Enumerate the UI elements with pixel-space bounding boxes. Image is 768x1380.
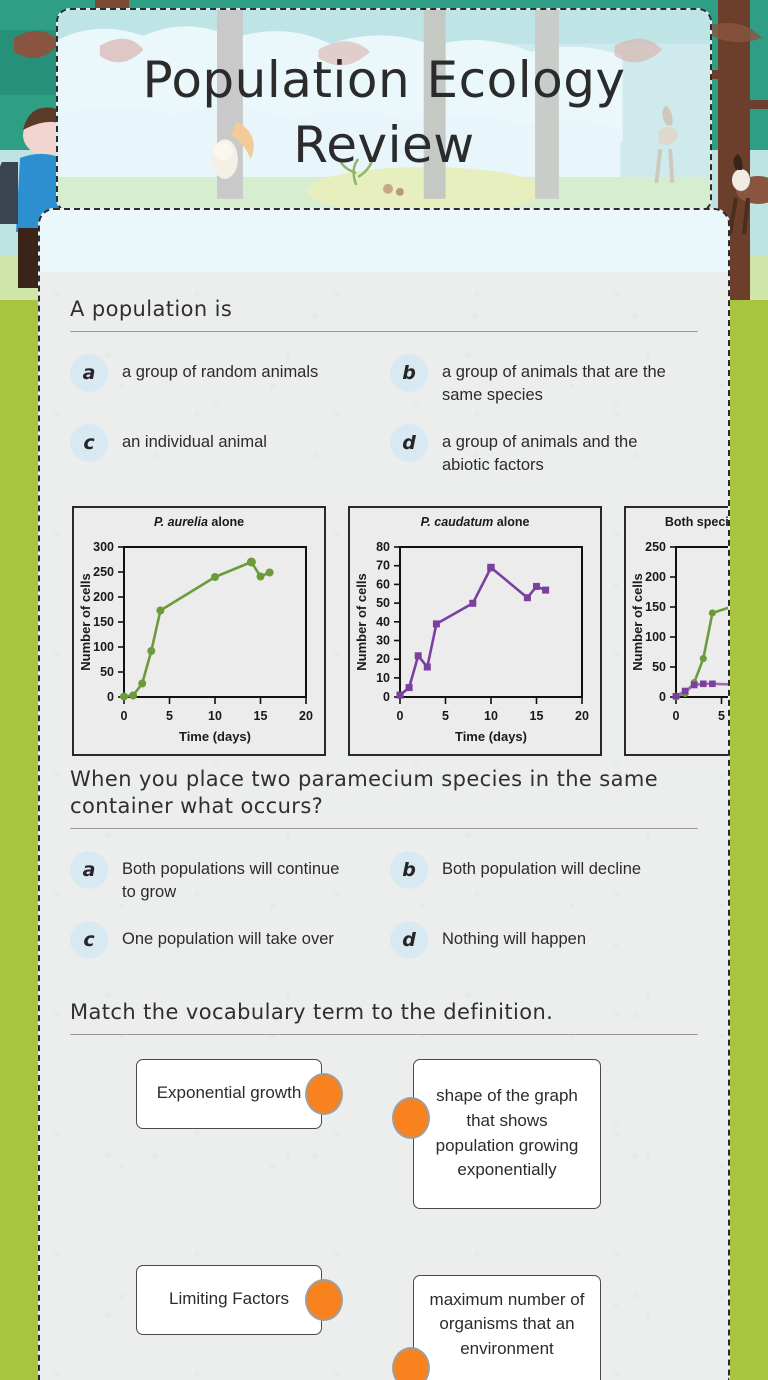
match-connector-dot[interactable] bbox=[305, 1073, 343, 1115]
question-1-option-a[interactable]: a a group of random animals bbox=[70, 352, 378, 414]
title-banner: Population Ecology Review bbox=[56, 8, 712, 213]
question-2-options: a Both populations will continue to grow… bbox=[70, 839, 698, 981]
svg-text:70: 70 bbox=[376, 559, 390, 573]
worksheet-paper-card: A population is a a group of random anim… bbox=[38, 208, 730, 1380]
chart-1-xlabel: Time (days) bbox=[179, 729, 251, 744]
svg-text:50: 50 bbox=[100, 665, 114, 679]
svg-text:20: 20 bbox=[575, 709, 589, 723]
match-definition-label: shape of the graph that shows population… bbox=[428, 1084, 586, 1183]
chart-2-title-rest: alone bbox=[493, 515, 529, 529]
svg-text:0: 0 bbox=[397, 709, 404, 723]
svg-text:100: 100 bbox=[645, 630, 666, 644]
question-2-option-c[interactable]: c One population will take over bbox=[70, 919, 378, 981]
option-letter-bubble[interactable]: c bbox=[70, 921, 108, 959]
chart-2-title-species: P. caudatum bbox=[421, 515, 494, 529]
svg-text:20: 20 bbox=[376, 652, 390, 666]
option-text: a group of animals that are the same spe… bbox=[442, 352, 667, 408]
option-letter-bubble[interactable]: c bbox=[70, 424, 108, 462]
svg-text:20: 20 bbox=[299, 709, 313, 723]
option-letter-bubble[interactable]: b bbox=[390, 851, 428, 889]
page-title-line-2: Review bbox=[293, 115, 474, 176]
question-2-option-b[interactable]: b Both population will decline bbox=[390, 849, 698, 911]
match-connector-dot[interactable] bbox=[392, 1097, 430, 1139]
question-2: When you place two paramecium species in… bbox=[40, 766, 728, 981]
svg-text:15: 15 bbox=[254, 709, 268, 723]
chart-p-aurelia-alone: P. aurelia alone 300 250 200 150 100 50 … bbox=[72, 506, 326, 756]
svg-text:0: 0 bbox=[121, 709, 128, 723]
page-title-line-1: Population Ecology bbox=[142, 50, 625, 111]
chart-3-title: Both species grown together bbox=[626, 508, 728, 529]
option-text: One population will take over bbox=[122, 919, 334, 951]
svg-text:0: 0 bbox=[673, 709, 680, 723]
svg-text:30: 30 bbox=[376, 633, 390, 647]
svg-text:250: 250 bbox=[645, 540, 666, 554]
svg-text:0: 0 bbox=[107, 690, 114, 704]
svg-text:5: 5 bbox=[442, 709, 449, 723]
chart-p-caudatum-alone: P. caudatum alone 80 70 60 50 40 30 20 1… bbox=[348, 506, 602, 756]
paramecium-charts-strip: P. aurelia alone 300 250 200 150 100 50 … bbox=[40, 506, 728, 758]
option-text: Both population will decline bbox=[442, 849, 641, 881]
chart-2-plot: 80 70 60 50 40 30 20 10 0 bbox=[350, 529, 600, 751]
svg-text:100: 100 bbox=[93, 640, 114, 654]
question-1-prompt: A population is bbox=[70, 296, 698, 331]
option-text: an individual animal bbox=[122, 422, 267, 454]
svg-text:0: 0 bbox=[659, 690, 666, 704]
match-definition-exponential-shape[interactable]: shape of the graph that shows population… bbox=[413, 1059, 601, 1209]
match-definition-label: maximum number of organisms that an envi… bbox=[428, 1288, 586, 1362]
page-title: Population Ecology Review bbox=[58, 10, 710, 211]
match-connector-dot[interactable] bbox=[305, 1279, 343, 1321]
matching-prompt: Match the vocabulary term to the definit… bbox=[70, 999, 698, 1034]
chart-1-ylabel: Number of cells bbox=[78, 573, 93, 671]
card-top-strip bbox=[40, 210, 728, 272]
question-2-option-a[interactable]: a Both populations will continue to grow bbox=[70, 849, 378, 911]
match-term-label: Limiting Factors bbox=[169, 1287, 289, 1312]
option-text: a group of animals and the abiotic facto… bbox=[442, 422, 667, 478]
option-text: Both populations will continue to grow bbox=[122, 849, 347, 905]
chart-1-title-rest: alone bbox=[208, 515, 244, 529]
question-1-option-d[interactable]: d a group of animals and the abiotic fac… bbox=[390, 422, 698, 484]
svg-text:0: 0 bbox=[383, 690, 390, 704]
svg-text:5: 5 bbox=[718, 709, 725, 723]
svg-text:10: 10 bbox=[208, 709, 222, 723]
chart-both-species-grown-together: Both species grown together 250 200 150 … bbox=[624, 506, 728, 756]
match-term-label: Exponential growth bbox=[157, 1081, 302, 1106]
chart-1-title: P. aurelia alone bbox=[74, 508, 324, 529]
svg-text:15: 15 bbox=[530, 709, 544, 723]
svg-text:200: 200 bbox=[645, 570, 666, 584]
svg-text:200: 200 bbox=[93, 590, 114, 604]
match-definition-carrying-capacity[interactable]: maximum number of organisms that an envi… bbox=[413, 1275, 601, 1380]
matching-terms-column: Exponential growth Limiting Factors bbox=[70, 1059, 355, 1380]
question-2-divider bbox=[70, 828, 698, 829]
worksheet: Population Ecology Review A population i… bbox=[36, 0, 732, 1380]
chart-1-plot: 300 250 200 150 100 50 0 bbox=[74, 529, 324, 751]
matching-grid: Exponential growth Limiting Factors shap… bbox=[70, 1045, 698, 1380]
question-1-divider bbox=[70, 331, 698, 332]
svg-text:80: 80 bbox=[376, 540, 390, 554]
option-letter-bubble[interactable]: d bbox=[390, 424, 428, 462]
question-1-option-c[interactable]: c an individual animal bbox=[70, 422, 378, 484]
chart-3-plot: 250 200 150 100 50 0 bbox=[626, 529, 728, 751]
svg-text:50: 50 bbox=[376, 596, 390, 610]
svg-text:150: 150 bbox=[93, 615, 114, 629]
chart-1-title-species: P. aurelia bbox=[154, 515, 208, 529]
match-connector-dot[interactable] bbox=[392, 1347, 430, 1380]
matching-definitions-column: shape of the graph that shows population… bbox=[413, 1059, 698, 1380]
matching-divider bbox=[70, 1034, 698, 1035]
worksheet-body: A population is a a group of random anim… bbox=[40, 272, 728, 1380]
matching-section: Match the vocabulary term to the definit… bbox=[40, 999, 728, 1380]
svg-text:150: 150 bbox=[645, 600, 666, 614]
option-letter-bubble[interactable]: b bbox=[390, 354, 428, 392]
chart-3-ylabel: Number of cells bbox=[630, 573, 645, 671]
svg-text:250: 250 bbox=[93, 565, 114, 579]
chart-2-title: P. caudatum alone bbox=[350, 508, 600, 529]
match-term-limiting-factors[interactable]: Limiting Factors bbox=[136, 1265, 322, 1335]
chart-2-xlabel: Time (days) bbox=[455, 729, 527, 744]
svg-text:40: 40 bbox=[376, 615, 390, 629]
svg-text:5: 5 bbox=[166, 709, 173, 723]
option-letter-bubble[interactable]: d bbox=[390, 921, 428, 959]
svg-text:50: 50 bbox=[652, 660, 666, 674]
svg-text:10: 10 bbox=[376, 671, 390, 685]
question-2-prompt: When you place two paramecium species in… bbox=[70, 766, 698, 828]
option-text: Nothing will happen bbox=[442, 919, 586, 951]
option-text: a group of random animals bbox=[122, 352, 318, 384]
option-letter-bubble[interactable]: a bbox=[70, 851, 108, 889]
chart-2-ylabel: Number of cells bbox=[354, 573, 369, 671]
svg-text:10: 10 bbox=[484, 709, 498, 723]
match-term-exponential-growth[interactable]: Exponential growth bbox=[136, 1059, 322, 1129]
svg-text:60: 60 bbox=[376, 577, 390, 591]
question-1-options: a a group of random animals b a group of… bbox=[70, 342, 698, 484]
question-1-option-b[interactable]: b a group of animals that are the same s… bbox=[390, 352, 698, 414]
question-2-option-d[interactable]: d Nothing will happen bbox=[390, 919, 698, 981]
question-1: A population is a a group of random anim… bbox=[40, 272, 728, 484]
option-letter-bubble[interactable]: a bbox=[70, 354, 108, 392]
svg-text:300: 300 bbox=[93, 540, 114, 554]
